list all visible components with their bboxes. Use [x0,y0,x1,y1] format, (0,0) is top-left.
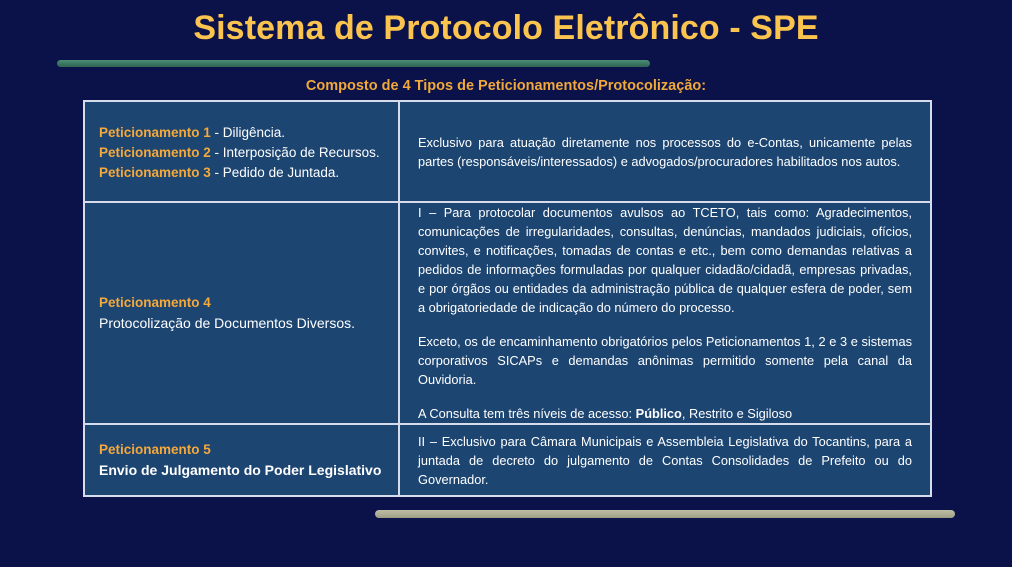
peticionamento-description: - Diligência. [211,125,285,140]
peticionamento-label: Peticionamento 1 [99,125,211,140]
description-paragraph: II – Exclusivo para Câmara Municipais e … [418,432,912,489]
list-item: Peticionamento 1 - Diligência. [99,123,384,143]
table-cell-right: I – Para protocolar documentos avulsos a… [400,203,930,423]
peticionamento-table: Peticionamento 1 - Diligência. Peticiona… [83,100,932,497]
table-cell-right: Exclusivo para atuação diretamente nos p… [400,102,930,201]
access-level-public: Público [636,406,682,421]
description-paragraph: I – Para protocolar documentos avulsos a… [418,203,912,317]
peticionamento-heading: Peticionamento 5 [99,440,384,460]
list-item: Peticionamento 3 - Pedido de Juntada. [99,163,384,183]
description-paragraph: Exceto, os de encaminhamento obrigatório… [418,332,912,389]
peticionamento-description: - Interposição de Recursos. [211,145,380,160]
list-item: Peticionamento 2 - Interposição de Recur… [99,143,384,163]
slide-root: Sistema de Protocolo Eletrônico - SPE Co… [0,0,1012,567]
access-levels-line: A Consulta tem três níveis de acesso: Pú… [418,404,912,423]
table-row: Peticionamento 1 - Diligência. Peticiona… [85,102,930,203]
peticionamento-description: - Pedido de Juntada. [211,165,339,180]
peticionamento-label: Peticionamento 3 [99,165,211,180]
peticionamento-subheading: Protocolização de Documentos Diversos. [99,313,384,334]
table-row: Peticionamento 4 Protocolização de Docum… [85,203,930,425]
peticionamento-label: Peticionamento 2 [99,145,211,160]
page-title: Sistema de Protocolo Eletrônico - SPE [0,6,1012,50]
access-levels-suffix: , Restrito e Sigiloso [682,406,792,421]
peticionamento-heading: Peticionamento 4 [99,293,384,313]
decorative-bar-bottom [375,510,955,518]
peticionamento-subheading: Envio de Julgamento do Poder Legislativo [99,460,384,481]
table-cell-left: Peticionamento 5 Envio de Julgamento do … [85,425,400,495]
decorative-bar-top [57,60,650,67]
description-paragraph: Exclusivo para atuação diretamente nos p… [418,133,912,171]
table-row: Peticionamento 5 Envio de Julgamento do … [85,425,930,495]
access-levels-prefix: A Consulta tem três níveis de acesso: [418,406,636,421]
table-cell-left: Peticionamento 1 - Diligência. Peticiona… [85,102,400,201]
table-cell-left: Peticionamento 4 Protocolização de Docum… [85,203,400,423]
table-cell-right: II – Exclusivo para Câmara Municipais e … [400,425,930,495]
page-subtitle: Composto de 4 Tipos de Peticionamentos/P… [0,76,1012,96]
